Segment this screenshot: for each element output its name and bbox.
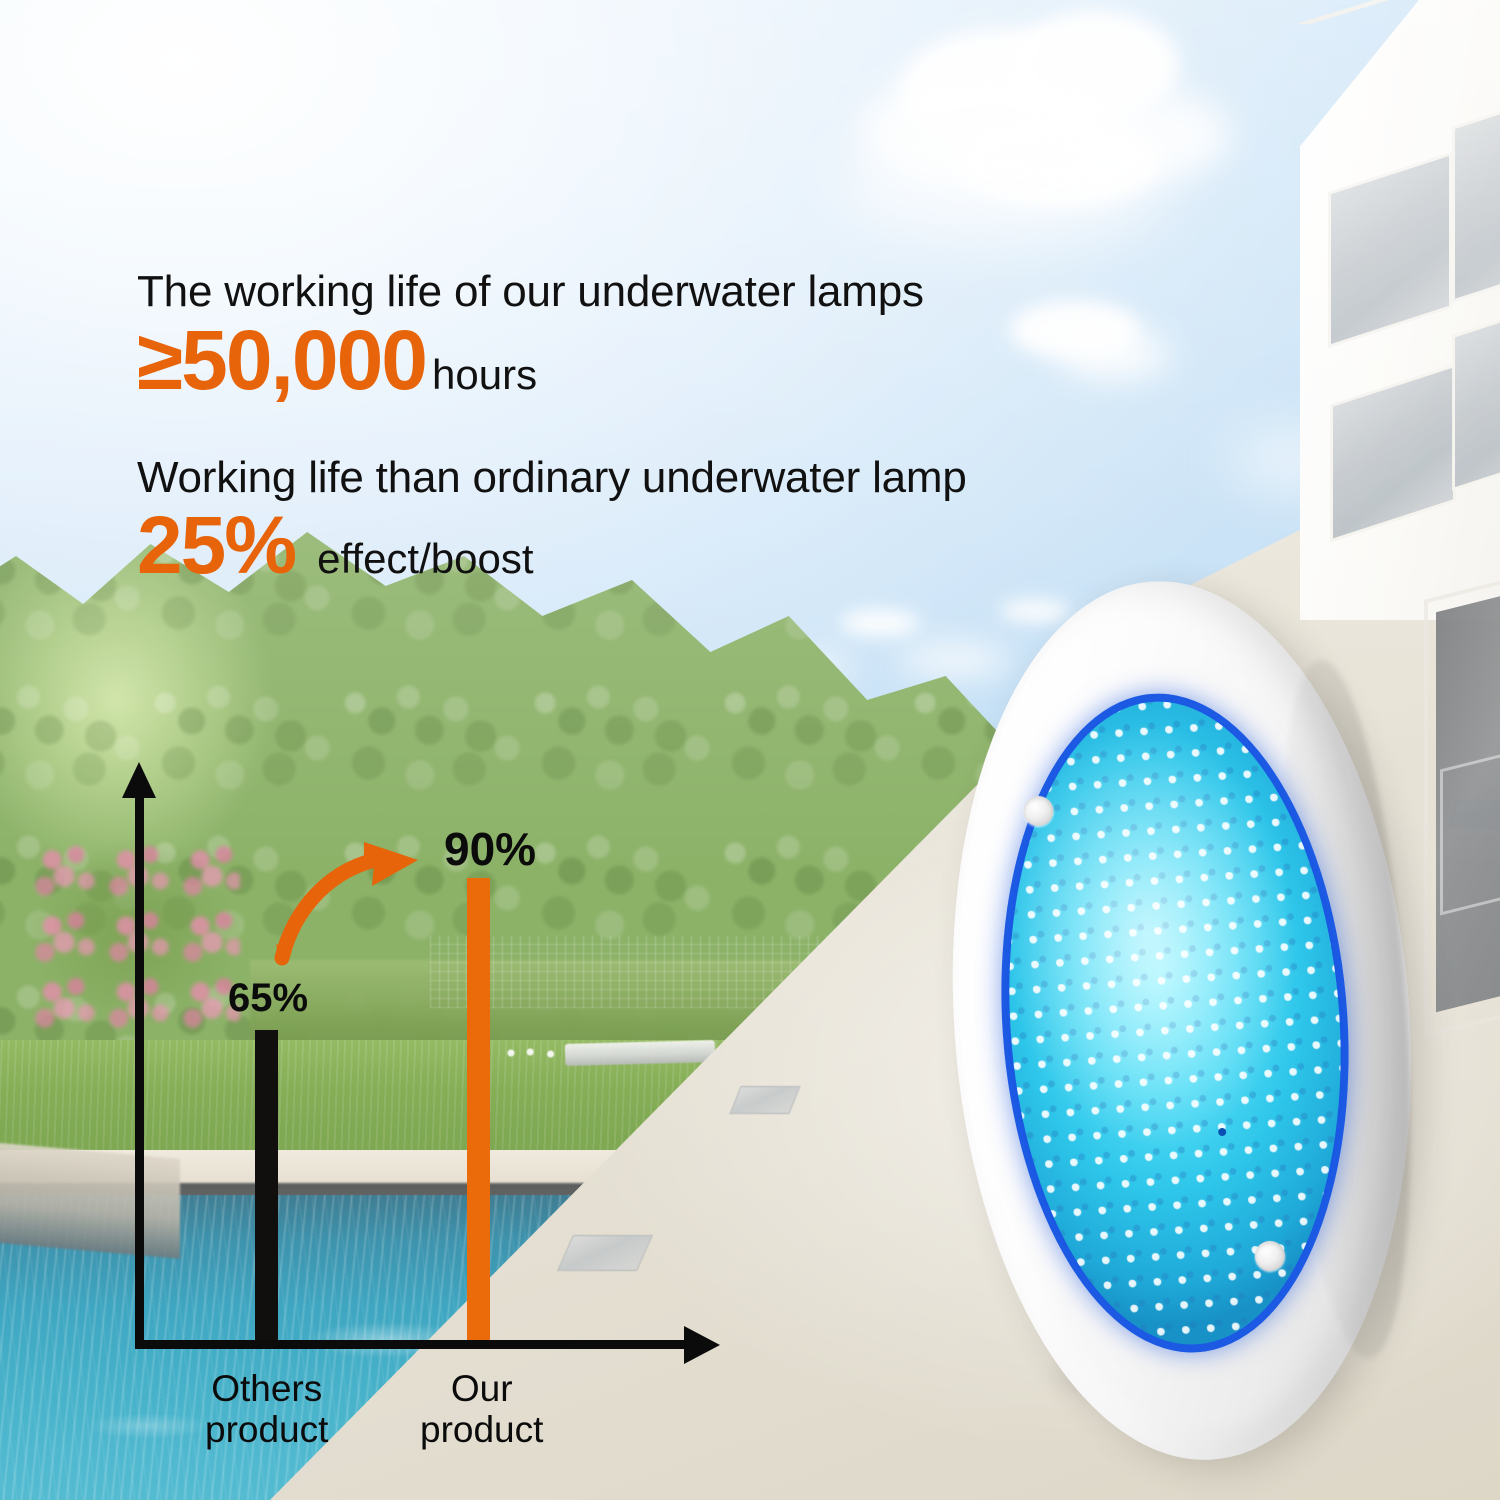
headline-line-2: Working life than ordinary underwater la… <box>137 454 1127 502</box>
stat-row-hours: ≥50,000 hours <box>137 318 1127 402</box>
pool-jets <box>505 1048 565 1058</box>
deck-drain-1 <box>729 1086 800 1114</box>
pool-wall-left <box>0 1141 180 1258</box>
stat-boost-unit: effect/boost <box>317 535 533 583</box>
stat-hours-unit: hours <box>432 351 537 399</box>
stat-boost-value: 25% <box>137 505 295 587</box>
stat-row-boost: 25% effect/boost <box>137 505 1127 587</box>
headline-line-1: The working life of our underwater lamps <box>137 268 1127 316</box>
stat-hours-value: ≥50,000 <box>137 318 426 402</box>
flowering-shrub <box>30 840 240 1030</box>
house-glass-panel <box>1440 751 1500 916</box>
led-underwater-lamp <box>924 565 1456 1496</box>
pool-skimmer <box>565 1040 716 1066</box>
lamp-lens <box>988 690 1361 1355</box>
lens-glow <box>988 690 1361 1355</box>
headline-block: The working life of our underwater lamps… <box>137 268 1127 587</box>
product-infographic: The working life of our underwater lamps… <box>0 0 1500 1500</box>
deck-drain-2 <box>557 1235 653 1271</box>
